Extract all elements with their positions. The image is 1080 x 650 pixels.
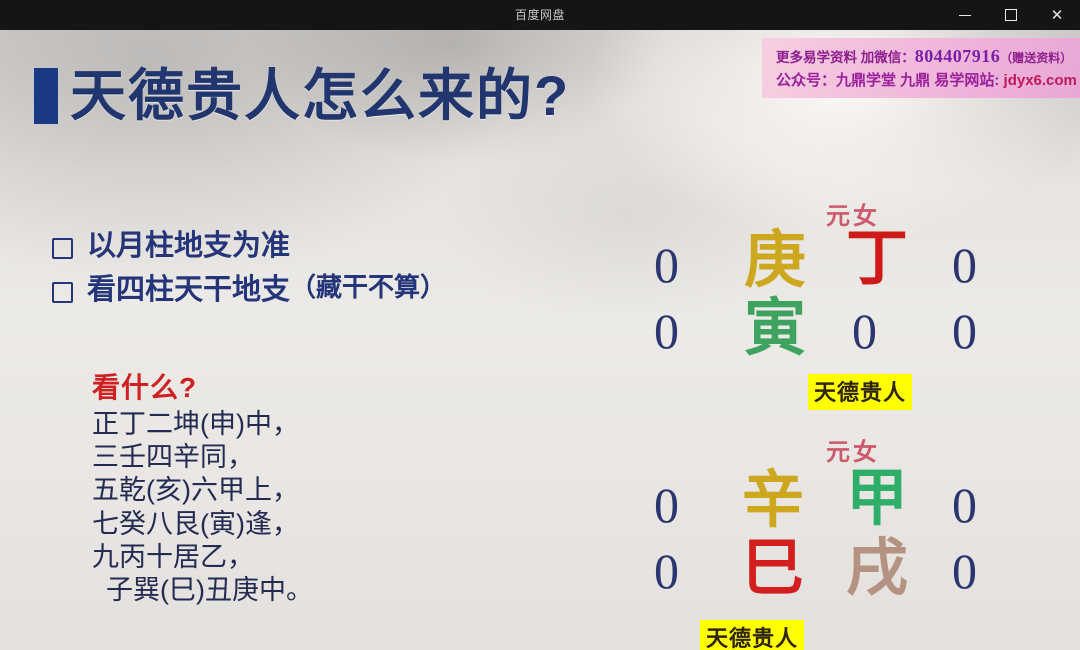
bullet-list: 以月柱地支为准 看四柱天干地支 （藏干不算） xyxy=(52,226,446,314)
promo-account-name: 九鼎学堂 九鼎 易学网站: xyxy=(836,72,999,89)
chart-cell: 辛 xyxy=(742,470,804,532)
tiande-guiren-badge: 天德贵人 xyxy=(808,374,912,410)
poem-line: 七癸八艮(寅)逢， xyxy=(92,508,512,541)
promo-banner: 更多易学资料 加微信：804407916（赠送资料） 公众号：九鼎学堂 九鼎 易… xyxy=(762,38,1080,98)
poem-line: 九丙十居乙， xyxy=(92,541,512,574)
promo-line-account: 公众号：九鼎学堂 九鼎 易学网站: jdyx6.com xyxy=(776,70,1080,91)
window-controls: ✕ xyxy=(942,0,1080,30)
slide-content: 天德贵人怎么来的? 以月柱地支为准 看四柱天干地支 （藏干不算） 看什么? 正丁… xyxy=(0,30,1080,650)
chart-cell: 戌 xyxy=(846,538,908,600)
chart-cell: 0 xyxy=(654,240,679,290)
window-titlebar[interactable]: 百度网盘 ✕ xyxy=(0,0,1080,30)
promo-website-url[interactable]: jdyx6.com xyxy=(1004,72,1077,89)
maximize-icon xyxy=(1005,9,1017,21)
poem-line: 正丁二坤(申)中， xyxy=(92,408,512,441)
promo-line-wechat: 更多易学资料 加微信：804407916（赠送资料） xyxy=(776,44,1080,70)
page-title: 天德贵人怎么来的? xyxy=(70,68,570,124)
chart-cell: 丁 xyxy=(846,228,908,290)
window-title: 百度网盘 xyxy=(515,0,565,30)
bullet-label: 以月柱地支为准 xyxy=(87,226,290,266)
chart-cell: 0 xyxy=(952,480,977,530)
square-bullet-icon xyxy=(52,238,73,259)
promo-wechat-label: 更多易学资料 加微信： xyxy=(776,50,915,65)
minimize-icon xyxy=(959,15,971,16)
chart-cell: 庚 xyxy=(744,230,806,292)
promo-gift-note: （赠送资料） xyxy=(1000,51,1072,65)
poem-line: 五乾(亥)六甲上， xyxy=(92,474,512,507)
chart-cell: 0 xyxy=(654,546,679,596)
chart-cell: 巳 xyxy=(742,538,804,600)
close-icon: ✕ xyxy=(1051,8,1064,23)
promo-wechat-number: 804407916 xyxy=(915,46,1001,66)
poem-line: 三壬四辛同， xyxy=(92,441,512,474)
chart-cell: 甲 xyxy=(846,468,908,530)
poem-block: 正丁二坤(申)中， 三壬四辛同， 五乾(亥)六甲上， 七癸八艮(寅)逢， 九丙十… xyxy=(92,408,512,607)
chart-cell: 0 xyxy=(952,306,977,356)
close-button[interactable]: ✕ xyxy=(1034,0,1080,30)
minimize-button[interactable] xyxy=(942,0,988,30)
bazi-chart-top: 元女 0 0 庚 寅 丁 0 0 0 天德贵人 xyxy=(630,182,1030,392)
chart-cell: 0 xyxy=(654,480,679,530)
chart-cell: 0 xyxy=(952,546,977,596)
chart-cell: 0 xyxy=(654,306,679,356)
tiande-guiren-badge: 天德贵人 xyxy=(700,620,804,650)
app-window: 百度网盘 ✕ 天德贵人怎么来的? 以月柱地支为准 xyxy=(0,0,1080,650)
bullet-label: 看四柱天干地支 xyxy=(87,270,290,310)
title-accent-bar xyxy=(34,68,58,124)
bullet-note: （藏干不算） xyxy=(290,270,446,306)
promo-account-label: 公众号： xyxy=(776,72,836,89)
yuannv-label: 元女 xyxy=(826,432,880,467)
ask-label: 看什么? xyxy=(92,366,197,406)
chart-cell: 寅 xyxy=(744,298,806,360)
chart-cell: 0 xyxy=(952,240,977,290)
list-item: 看四柱天干地支 （藏干不算） xyxy=(52,270,446,310)
slide-title-block: 天德贵人怎么来的? xyxy=(34,68,570,124)
maximize-button[interactable] xyxy=(988,0,1034,30)
poem-line: 子巽(巳)丑庚中。 xyxy=(92,574,512,607)
list-item: 以月柱地支为准 xyxy=(52,226,446,266)
bazi-chart-bottom: 元女 0 0 辛 巳 甲 戌 0 0 天德贵人 xyxy=(630,422,1030,632)
square-bullet-icon xyxy=(52,282,73,303)
chart-cell: 0 xyxy=(852,306,877,356)
